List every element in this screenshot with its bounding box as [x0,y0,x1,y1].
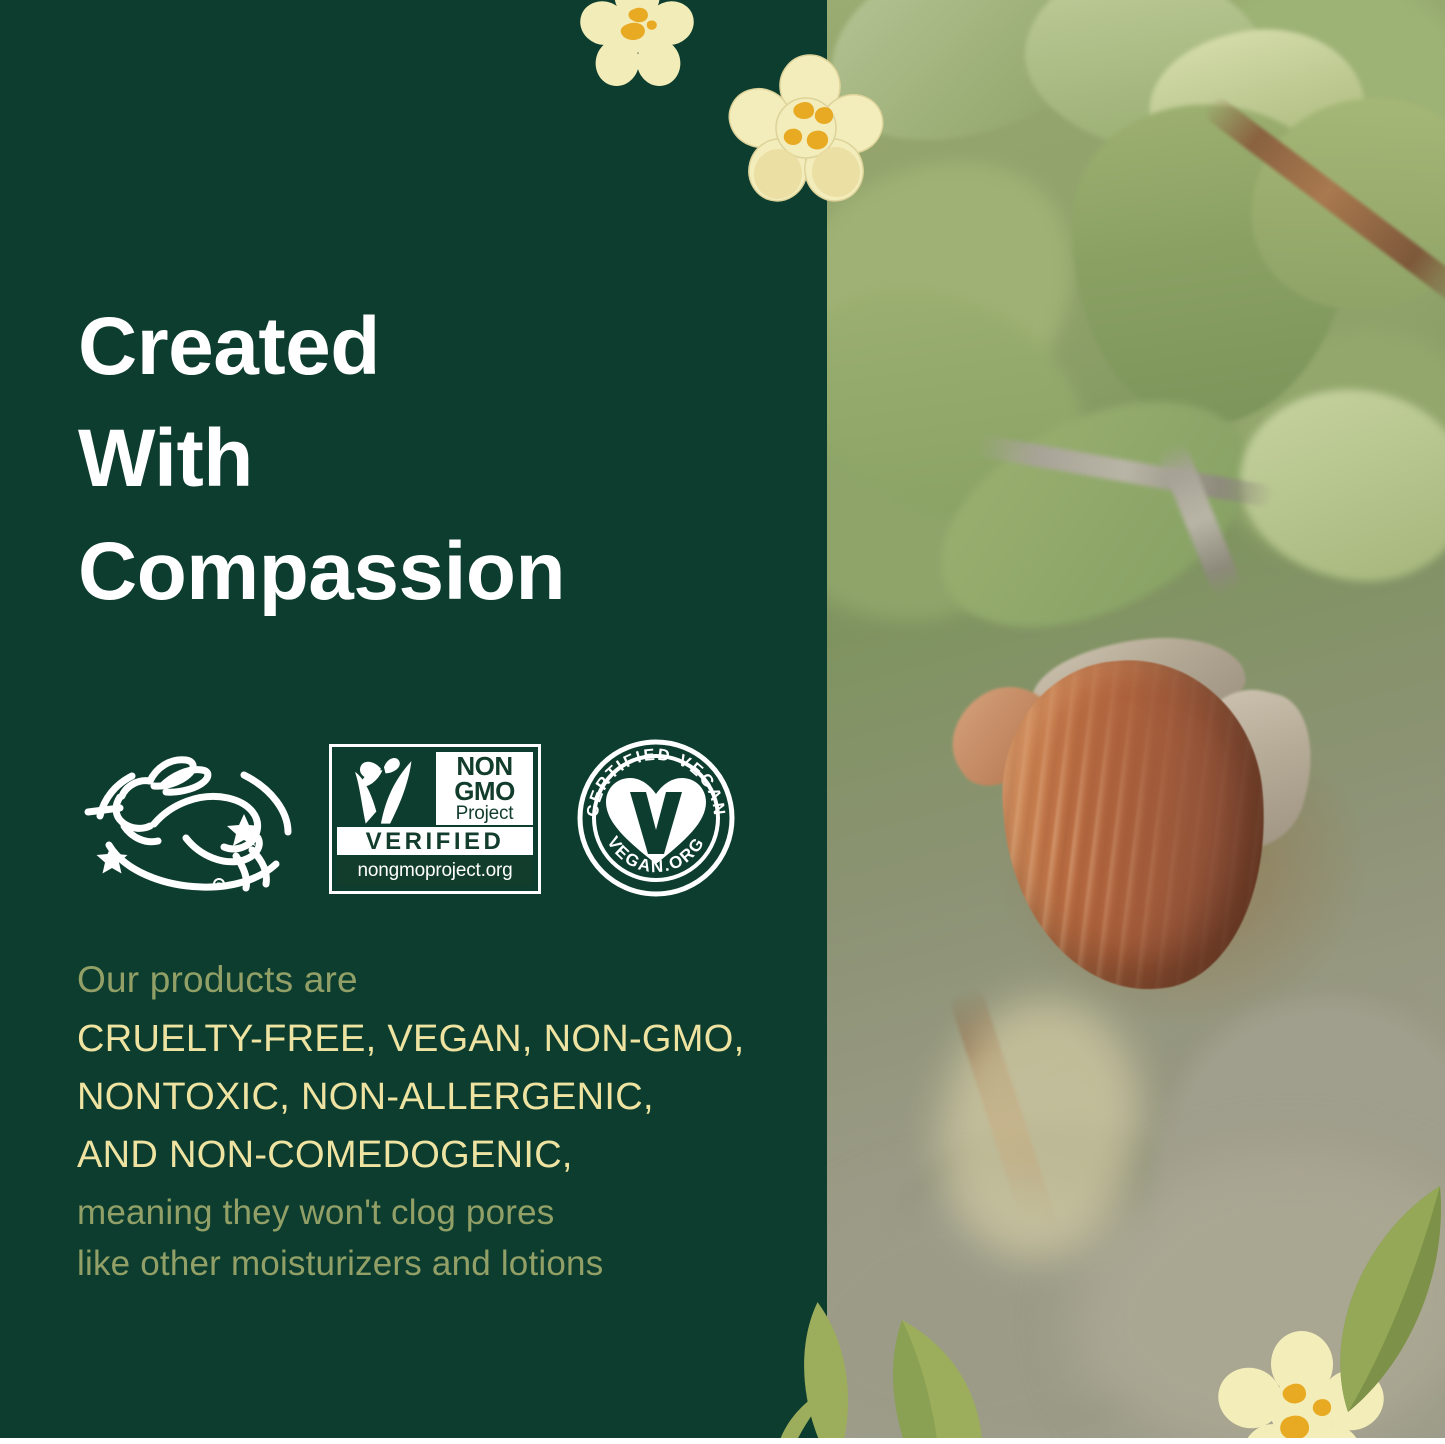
certified-vegan-badge: CERTIFIED VEGAN VEGAN.ORG [576,738,736,898]
butterfly-plant-icon [337,752,436,825]
leaf-c-icon [872,1320,1004,1444]
promo-banner: Created With Compassion [0,0,1445,1444]
body-copy: Our products are CRUELTY-FREE, VEGAN, NO… [77,952,807,1290]
svg-text:R: R [216,883,221,890]
bottom-white-strip [0,1438,1445,1444]
tail-line: like other moisturizers and lotions [77,1238,807,1290]
headline-line-2: With [78,403,798,515]
content-panel: Created With Compassion [0,0,827,1444]
claim-line: CRUELTY-FREE, VEGAN, NON-GMO, [77,1010,807,1068]
headline-line-3: Compassion [78,516,798,628]
tail-line: meaning they won't clog pores [77,1187,807,1239]
flower-top-left-icon [578,0,696,90]
non-gmo-verified-badge: NON GMO Project VERIFIED nongmoproject.o… [329,744,541,894]
certification-badge-row: R [76,736,776,896]
nongmo-word-project: Project [456,805,514,823]
leaf-b-icon [760,1375,852,1444]
lead-text: Our products are [77,952,807,1008]
nongmo-url-text: nongmoproject.org [337,857,533,886]
leaf-d-icon [1322,1186,1445,1416]
nongmo-verified-text: VERIFIED [337,827,533,857]
claim-line: AND NON-COMEDOGENIC, [77,1126,807,1184]
claim-line: NONTOXIC, NON-ALLERGENIC, [77,1068,807,1126]
leaping-bunny-icon: R [76,746,326,896]
page-title: Created With Compassion [78,291,798,628]
flower-top-right-icon [726,52,886,212]
nongmo-word-gmo: GMO [454,779,515,804]
headline-line-1: Created [78,291,798,403]
tail-text: meaning they won't clog pores like other… [77,1187,807,1291]
claims-list: CRUELTY-FREE, VEGAN, NON-GMO, NONTOXIC, … [77,1010,807,1184]
